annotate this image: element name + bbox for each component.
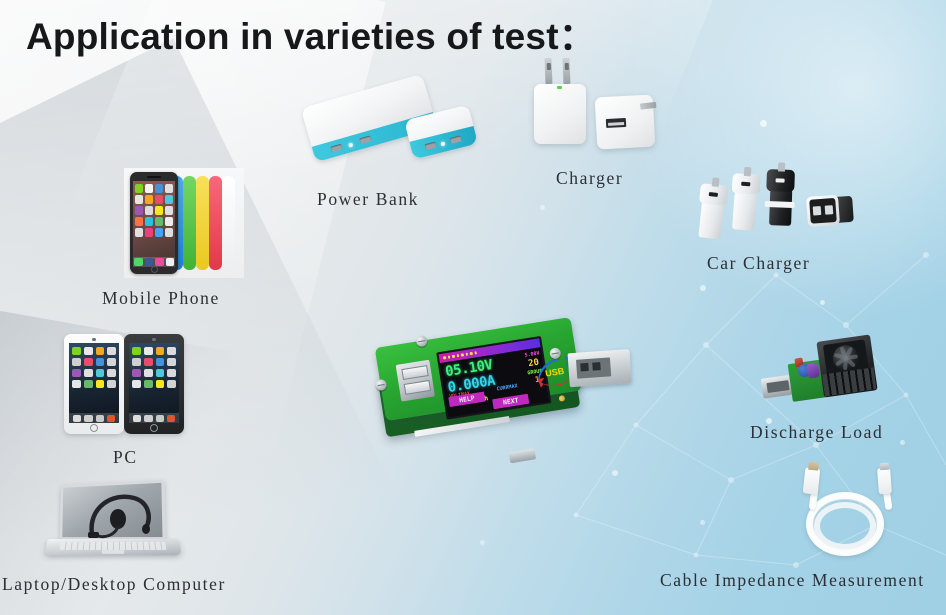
phone-color-stack	[124, 168, 244, 278]
product-cable	[792, 462, 922, 567]
lcd-next-button[interactable]: NEXT	[492, 394, 529, 410]
cable-coil-inner	[814, 502, 876, 550]
charger-prong-hole	[564, 63, 568, 70]
bokeh-dot	[540, 205, 545, 210]
product-discharge-load	[762, 330, 882, 422]
charger-prong	[545, 58, 553, 84]
tablet-white	[64, 334, 124, 434]
phone-variant-white	[222, 176, 235, 270]
bokeh-dot	[760, 120, 767, 127]
caption-car-charger: Car Charger	[707, 253, 810, 274]
tablet-screen	[69, 343, 119, 423]
caption-charger: Charger	[556, 168, 623, 189]
charger-prong-side	[640, 102, 657, 110]
svg-text:USB: USB	[545, 366, 566, 379]
product-car-charger	[700, 165, 875, 255]
tester-screw	[415, 335, 428, 348]
phone-front	[130, 172, 178, 274]
application-banner: Application in varieties of test：	[0, 0, 946, 615]
caption-cable: Cable Impedance Measurement	[660, 570, 925, 591]
caption-discharge-load: Discharge Load	[750, 422, 883, 443]
product-pc-tablets	[62, 332, 192, 437]
lcd-currmax-label: CURRMAX	[496, 383, 518, 392]
phone-earpiece	[147, 176, 161, 178]
charger-body-side	[595, 95, 656, 150]
tester-white-strip	[414, 416, 510, 437]
cable-plug-micro	[877, 468, 892, 495]
tablet-dock	[69, 413, 119, 423]
car-charger-collar	[765, 201, 795, 208]
tablet-home-button	[90, 424, 98, 432]
product-power-bank	[300, 80, 480, 180]
tablet-black	[124, 334, 184, 434]
caption-pc: PC	[113, 447, 138, 468]
tablet-camera	[92, 338, 96, 342]
car-charger-tip	[743, 167, 751, 176]
charger-prong-hole	[546, 63, 550, 70]
load-capacitor-purple	[806, 362, 820, 379]
caption-laptop: Laptop/Desktop Computer	[2, 574, 226, 595]
charger-usb-port	[606, 118, 626, 128]
car-charger-usb-port	[741, 182, 750, 187]
car-charger-usb-port	[813, 206, 822, 216]
caption-mobile-phone: Mobile Phone	[102, 288, 220, 309]
car-charger-usb-port	[825, 205, 834, 215]
cable-plug-contacts	[808, 462, 819, 471]
product-mobile-phone	[124, 168, 244, 278]
phone-variant-green	[183, 176, 196, 270]
caption-power-bank: Power Bank	[317, 189, 419, 210]
phone-screen	[133, 181, 175, 259]
tester-usb-a-input	[396, 360, 435, 402]
car-charger-usb-port	[709, 192, 718, 197]
car-charger-tip	[711, 177, 719, 187]
tablet-screen	[129, 343, 179, 423]
laptop-base	[44, 539, 181, 555]
phone-home-button	[151, 266, 158, 273]
tester-micro-usb-port	[509, 448, 536, 463]
fan-hub	[831, 343, 860, 372]
tablet-dock	[129, 413, 179, 423]
charger-prong	[563, 58, 571, 84]
product-usb-tester: 05.10V 0.000A 5.00V 20 GROUP 1 VOLTMAX C…	[372, 318, 642, 476]
car-charger-tip	[777, 162, 784, 171]
tablet-home-button	[150, 424, 158, 432]
tablet-camera	[152, 338, 156, 342]
load-heatsink	[816, 335, 877, 398]
laptop-keyboard	[60, 542, 167, 550]
cable-plug-connector	[880, 463, 889, 471]
cable-plug-usb-a	[803, 467, 821, 494]
tester-usb-a-output	[568, 349, 632, 387]
product-laptop	[38, 482, 188, 570]
bokeh-dot	[480, 540, 485, 545]
tester-gold-pad	[558, 395, 565, 402]
charger-indicator	[557, 86, 562, 89]
car-charger-usb-port	[776, 178, 785, 182]
phone-variant-red	[209, 176, 222, 270]
charger-body-front	[534, 84, 586, 144]
tester-screw	[375, 379, 388, 392]
phone-variant-yellow	[196, 176, 209, 270]
headset-icon	[78, 486, 158, 546]
page-title: Application in varieties of test：	[26, 6, 596, 60]
laptop-trackpad	[102, 550, 124, 554]
product-charger	[528, 52, 678, 167]
